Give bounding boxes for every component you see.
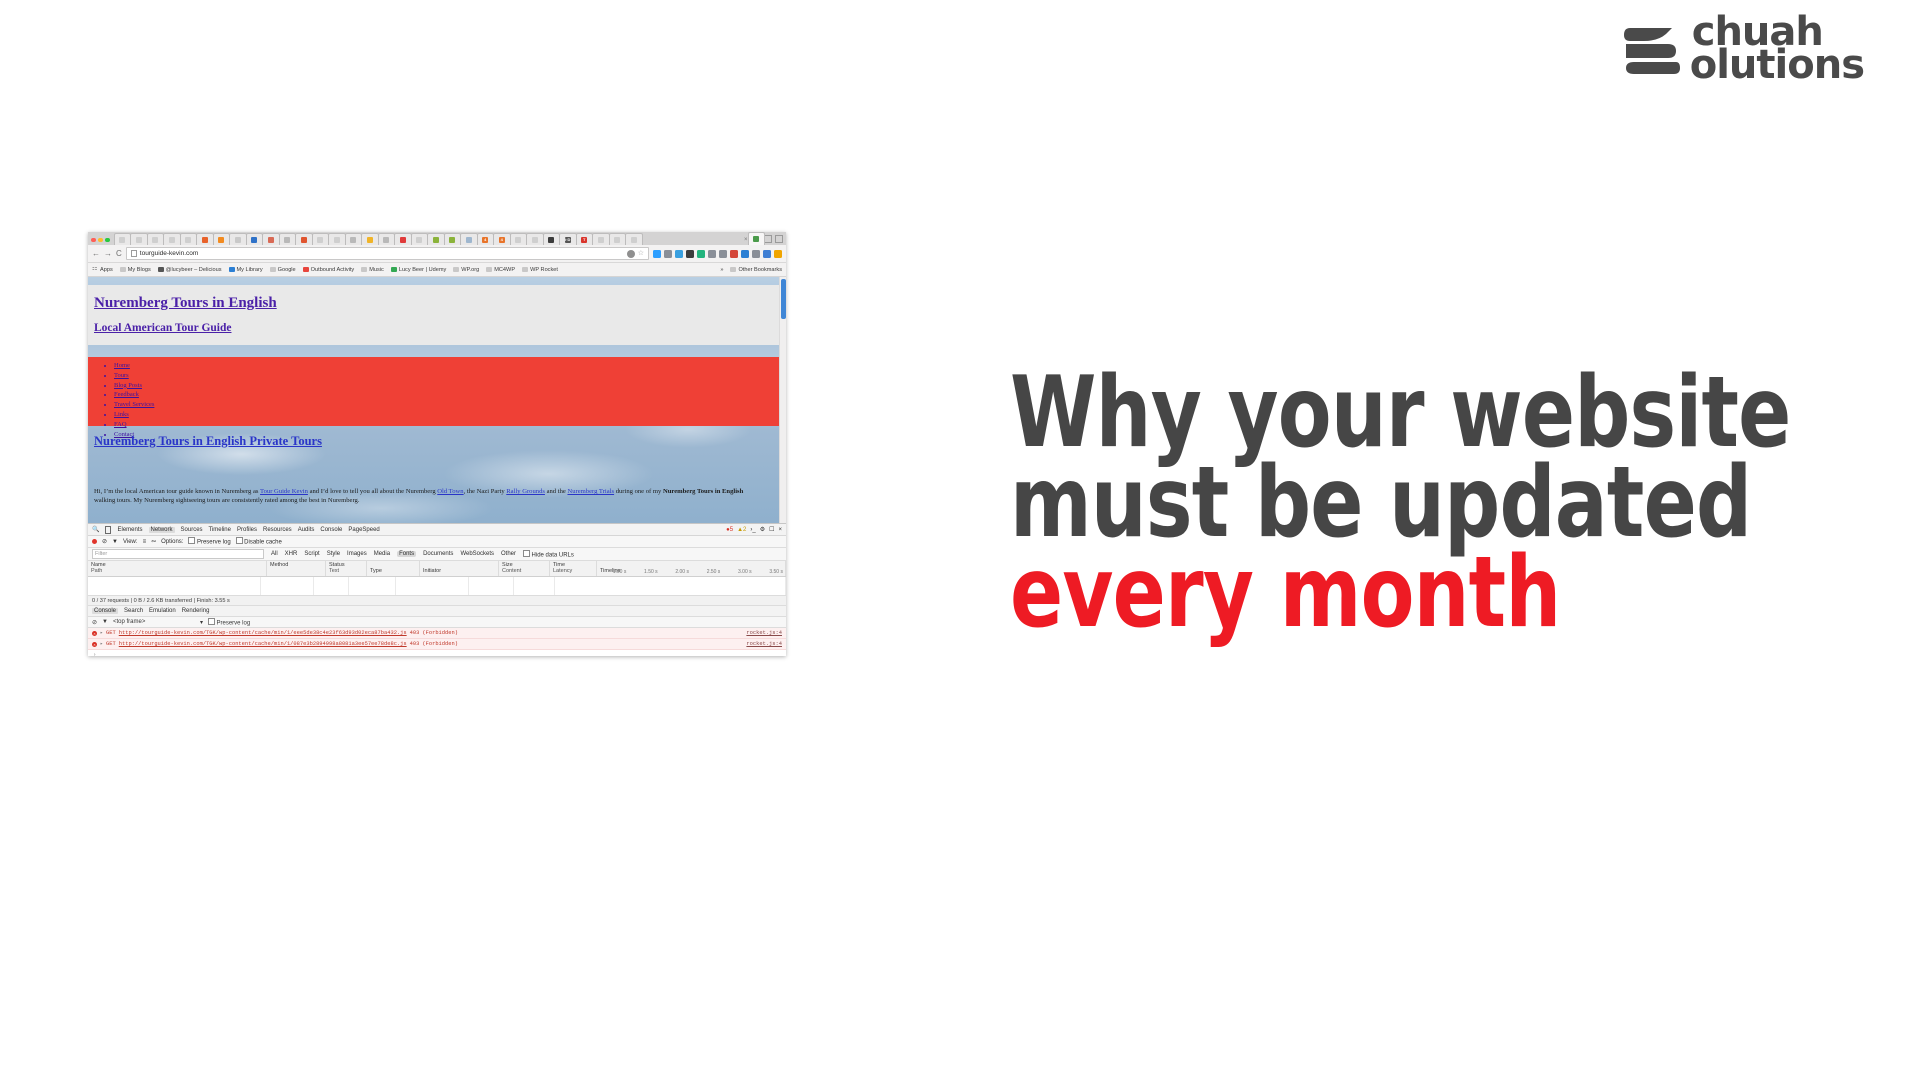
browser-tab-9[interactable] [262,233,280,245]
library-icon [229,267,235,272]
network-table-header[interactable]: NamePath Method StatusText Type Initiato… [88,560,786,577]
bookmark-my-blogs[interactable]: My Blogs [120,267,151,273]
window-controls[interactable] [91,238,110,246]
slide-headline: Why your website must be updated every m… [1010,368,1870,638]
status-text: (Forbidden) [422,641,458,647]
browser-tab-23[interactable]: 4 [493,233,511,245]
bookmark-lucy-beer-udemy[interactable]: Lucy Beer | Udemy [391,267,446,273]
blank-icon [532,237,538,243]
list-view-icon[interactable]: ≡ [143,539,147,545]
headline-line-2: must be updated [1010,458,1698,548]
column-method: Method [267,561,326,576]
bookmark-my-library[interactable]: My Library [229,267,263,273]
link-rally-grounds[interactable]: Rally Grounds [506,488,545,495]
filter-type-xhr[interactable]: XHR [285,551,298,557]
blank-icon [614,237,620,243]
drawer-tab-rendering[interactable]: Rendering [182,608,210,614]
logo-line-2: olutions [1690,49,1864,82]
bookmark-lucybeer-delicious[interactable]: @lucybeer – Delicious [158,267,222,273]
source-link[interactable]: rocket.js:4 [746,630,782,636]
clock-icon[interactable] [719,250,727,258]
devtools-panel: 🔍 ElementsNetworkSourcesTimelineProfiles… [88,523,786,656]
blank-icon [169,237,175,243]
browser-tab-26[interactable] [543,233,561,245]
browser-screenshot: 44i·DT × ← → C tourguide-kevin.com ☆ ☷Ap… [88,232,786,656]
devtools-tab-audits[interactable]: Audits [298,527,315,533]
browser-tab-4[interactable] [180,233,198,245]
browser-tab-3[interactable] [163,233,181,245]
site-nav-item-tours[interactable]: Tours [114,371,786,381]
column-timeline: Timeline 1.00 s1.50 s2.00 s2.50 s3.00 s3… [597,561,786,576]
console-toolbar[interactable]: ⊘ ▼ <top frame>▾ Preserve log [88,617,786,628]
address-bar[interactable]: tourguide-kevin.com ☆ [126,247,649,260]
browser-tab-17[interactable] [394,233,412,245]
browser-tab-14[interactable] [345,233,363,245]
browser-tab-1[interactable] [130,233,148,245]
filter-type-all[interactable]: All [271,551,278,557]
source-link[interactable]: rocket.js:4 [746,641,782,647]
orange-plus-icon [218,237,224,243]
network-filter-bar[interactable]: Filter AllXHRScriptStyleImagesMediaFonts… [88,548,786,560]
status-text: (Forbidden) [422,630,458,636]
page-body-paragraph: Hi, I’m the local American tour guide kn… [94,487,766,505]
cast-icon[interactable] [708,250,716,258]
error-count-badge[interactable]: ●5 [726,527,733,533]
browser-tab-27[interactable]: i·D [559,233,577,245]
zoom-window-icon[interactable] [105,238,110,243]
column-initiator: Initiator [420,561,499,576]
clear-icon[interactable]: ⊘ [102,538,107,545]
lock-icon[interactable] [730,250,738,258]
browser-tab-8[interactable] [246,233,264,245]
site-subtitle-link[interactable]: Local American Tour Guide [94,322,231,334]
window-buttons[interactable] [764,235,786,245]
site-nav-item-faq[interactable]: FAQ [114,420,786,430]
leaf-icon [433,237,439,243]
browser-tab-5[interactable] [196,233,214,245]
devtools-tab-profiles[interactable]: Profiles [237,527,257,533]
filter-type-other[interactable]: Other [501,551,516,557]
orange-doc-icon [202,237,208,243]
plus-icon[interactable] [741,250,749,258]
browser-tab-24[interactable] [510,233,528,245]
bookmark-outbound-activity[interactable]: Outbound Activity [303,267,355,273]
network-toolbar[interactable]: ⊘ ▼ View: ≡ ∾ Options: Preserve log Disa… [88,536,786,548]
extension-icons[interactable] [653,250,782,258]
devtools-tab-bar[interactable]: 🔍 ElementsNetworkSourcesTimelineProfiles… [88,524,786,536]
blank-icon [598,237,604,243]
browser-tab-21[interactable] [460,233,478,245]
io-icon: i·D [565,237,571,243]
browser-tab-2[interactable] [147,233,165,245]
warning-count-badge[interactable]: ▲2 [737,527,746,533]
heart-red-icon [400,237,406,243]
browser-tab-29[interactable] [592,233,610,245]
browser-tab-0[interactable] [114,233,132,245]
book-icon [251,237,257,243]
bookmark-wp-org[interactable]: WP.org [453,267,479,273]
console-error-row[interactable]: ×▸GEThttp://tourguide-kevin.com/TGK/wp-c… [88,628,786,639]
console-preserve-log-checkbox[interactable]: Preserve log [208,618,250,627]
blank-icon [119,237,125,243]
close-window-icon[interactable] [91,238,96,243]
devtools-tab-network[interactable]: Network [149,527,175,533]
drawer-tab-search[interactable]: Search [124,608,143,614]
console-frame-select[interactable]: <top frame>▾ [113,619,203,626]
devtools-tab-elements[interactable]: Elements [117,527,142,533]
browser-tab-15[interactable] [361,233,379,245]
site-nav-item-home[interactable]: Home [114,361,786,371]
timeline-tick: 2.50 s [691,569,722,575]
filter-input[interactable]: Filter [92,549,264,559]
badge4-icon: 4 [499,237,505,243]
back-button[interactable]: ← [92,250,100,258]
folder-icon [120,267,126,272]
view-label: View: [123,539,138,545]
timeline-tick: 1.50 s [628,569,659,575]
udemy-icon [391,267,397,272]
browser-tab-31[interactable] [625,233,643,245]
bookmark-google[interactable]: Google [270,267,296,273]
site-nav-item-links[interactable]: Links [114,410,786,420]
network-status-bar: 0 / 37 requests | 0 B / 2.6 KB transferr… [88,595,786,606]
brand-logo: chuah olutions [1622,16,1864,82]
address-bar-url: tourguide-kevin.com [140,250,199,257]
blank-icon [317,237,323,243]
console-clear-icon[interactable]: ⊘ [92,619,97,626]
devtools-tab-pagespeed[interactable]: PageSpeed [348,527,379,533]
request-method: GET [106,630,116,636]
bookmark-music[interactable]: Music [361,267,384,273]
blank-icon [631,237,637,243]
browser-tab-11[interactable] [295,233,313,245]
minimize-icon[interactable] [764,235,772,243]
site-nav-block: HomeToursBlog PostsFeedbackTravel Servic… [88,357,786,426]
filter-type-documents[interactable]: Documents [423,551,453,557]
letterT-icon: T [581,237,587,243]
error-icon: × [92,642,97,647]
image-icon[interactable] [675,250,683,258]
filter-type-images[interactable]: Images [347,551,367,557]
heart-icon [367,237,373,243]
page-viewport: Nuremberg Tours in English Local America… [88,277,786,523]
grid-icon [301,237,307,243]
devtools-tab-timeline[interactable]: Timeline [209,527,231,533]
filter-type-media[interactable]: Media [374,551,390,557]
folder-icon [730,267,736,272]
browser-tab-6[interactable] [213,233,231,245]
devtools-tab-console[interactable]: Console [320,527,342,533]
device-toggle-icon[interactable] [105,526,111,534]
browser-toolbar: ← → C tourguide-kevin.com ☆ [88,245,786,263]
site-title-link[interactable]: Nuremberg Tours in English [94,295,277,312]
blank-icon [515,237,521,243]
browser-tab-30[interactable] [609,233,627,245]
preserve-log-checkbox[interactable]: Preserve log [188,537,230,546]
browser-tab-28[interactable]: T [576,233,594,245]
drawer-tab-console[interactable]: Console [92,608,118,614]
error-icon: × [92,631,97,636]
blank-icon [416,237,422,243]
site-nav-item-feedback[interactable]: Feedback [114,390,786,400]
close-icon[interactable]: × [778,527,782,533]
column-size: SizeContent [499,561,550,576]
bookmark-wp-rocket[interactable]: WP Rocket [522,267,558,273]
drawer-tab-emulation[interactable]: Emulation [149,608,176,614]
hide-data-urls-checkbox[interactable]: Hide data URLs [523,550,574,559]
page-scrollbar[interactable] [779,277,786,523]
browser-tab-20[interactable] [444,233,462,245]
apps-grid-icon: ☷ [92,267,98,272]
console-filter-icon[interactable]: ▼ [102,619,108,625]
blank-icon [185,237,191,243]
wordpress-icon [350,237,356,243]
outbound-icon [303,267,309,272]
filter-type-fonts[interactable]: Fonts [397,551,416,557]
layers-icon[interactable] [686,250,694,258]
browser-tab-22[interactable]: 4 [477,233,495,245]
https-icon[interactable] [774,250,782,258]
scrollbar-thumb[interactable] [781,279,786,319]
wordpress-icon[interactable] [627,250,635,258]
console-message-list[interactable]: ×▸GEThttp://tourguide-kevin.com/TGK/wp-c… [88,628,786,650]
browser-tab-18[interactable] [411,233,429,245]
network-request-rows[interactable] [88,577,786,595]
devtools-status-group: ●5 ▲2 ›_ ⚙ ☐ × [726,526,782,533]
pin-icon[interactable] [697,250,705,258]
headline-line-3: every month [1010,548,1698,638]
active-tab[interactable] [748,232,766,245]
wordpress-icon [383,237,389,243]
filter-icon[interactable]: ▼ [112,539,118,545]
bookmark-mc4wp[interactable]: MC4WP [486,267,515,273]
filter-type-style[interactable]: Style [327,551,340,557]
timeline-tick: 2.00 s [660,569,691,575]
options-label: Options: [161,539,183,545]
console-error-row[interactable]: ×▸GEThttp://tourguide-kevin.com/TGK/wp-c… [88,639,786,650]
browser-tab-10[interactable] [279,233,297,245]
request-method: GET [106,641,116,647]
pen-icon [548,237,554,243]
folder-icon [270,267,276,272]
bookmark-star-icon[interactable]: ☆ [638,250,644,257]
delicious-icon [158,267,164,272]
disqus-icon[interactable] [653,250,661,258]
badge4-icon: 4 [482,237,488,243]
section-heading-link[interactable]: Nuremberg Tours in English Private Tours [94,434,322,449]
minimize-window-icon[interactable] [98,238,103,243]
bookmarks-bar[interactable]: ☷AppsMy Blogs@lucybeer – DeliciousMy Lib… [88,263,786,277]
bookmark-other-bookmarks[interactable]: Other Bookmarks [730,267,782,273]
disable-cache-checkbox[interactable]: Disable cache [236,537,282,546]
gear-icon[interactable]: ⚙ [760,526,765,533]
blank-icon [136,237,142,243]
dock-icon[interactable]: ☐ [769,526,774,533]
filter-type-websockets[interactable]: WebSockets [460,551,494,557]
folder-icon [486,267,492,272]
blank-icon [334,237,340,243]
page-info-icon[interactable] [131,250,137,257]
headline-line-1: Why your website [1010,368,1698,458]
request-url[interactable]: http://tourguide-kevin.com/TGK/wp-conten… [119,641,407,647]
timeline-tick: 1.00 s [597,569,628,575]
status-code: 403 [410,641,420,647]
tab-list[interactable]: 44i·DT [114,233,742,245]
shield-icon[interactable] [763,250,771,258]
drawer-tab-bar[interactable]: ConsoleSearchEmulationRendering [88,606,786,617]
site-nav-list[interactable]: HomeToursBlog PostsFeedbackTravel Servic… [88,357,786,439]
link-tour-guide-kevin[interactable]: Tour Guide Kevin [260,488,308,495]
browser-tab-strip: 44i·DT × [88,232,786,245]
site-nav-item-blog-posts[interactable]: Blog Posts [114,381,786,391]
mail-icon [235,237,241,243]
forward-button[interactable]: → [104,250,112,258]
browser-tab-13[interactable] [328,233,346,245]
blank-icon [152,237,158,243]
expand-icon[interactable]: ▸ [100,630,103,636]
folder-icon [361,267,367,272]
person-icon [268,237,274,243]
console-input-prompt[interactable]: › [88,650,786,656]
browser-tab-16[interactable] [378,233,396,245]
devtools-search-icon[interactable]: 🔍 [92,526,99,533]
dropper-icon[interactable] [664,250,672,258]
leaf-icon [449,237,455,243]
timeline-tick: 3.00 s [722,569,753,575]
wordpress-icon [284,237,290,243]
bookmarks-overflow-button[interactable]: » [720,267,723,273]
expand-icon[interactable]: ▸ [100,641,103,647]
browser-tab-12[interactable] [312,233,330,245]
browser-tab-19[interactable] [427,233,445,245]
status-code: 403 [410,630,420,636]
link-old-town[interactable]: Old Town [437,488,463,495]
filter-type-script[interactable]: Script [304,551,319,557]
console-drawer-toggle[interactable]: ›_ [750,527,755,533]
devtools-tab-sources[interactable]: Sources [181,527,203,533]
column-name: NamePath [88,561,267,576]
folder-icon [453,267,459,272]
folder-icon [522,267,528,272]
link-nuremberg-trials[interactable]: Nuremberg Trials [567,488,614,495]
share-icon[interactable] [752,250,760,258]
reload-button[interactable]: C [116,250,122,258]
devtools-tab-resources[interactable]: Resources [263,527,292,533]
news-icon [466,237,472,243]
request-url[interactable]: http://tourguide-kevin.com/TGK/wp-conten… [119,630,407,636]
browser-tab-25[interactable] [526,233,544,245]
column-type: Type [367,561,420,576]
page-header-band [88,285,786,345]
browser-tab-7[interactable] [229,233,247,245]
schuah-s-mark-icon [1622,18,1684,80]
column-time: TimeLatency [550,561,597,576]
site-nav-item-travel-services[interactable]: Travel Services [114,400,786,410]
timeline-tick: 3.50 s [754,569,785,575]
timeline-view-icon[interactable]: ∾ [151,538,156,545]
bookmark-apps[interactable]: ☷Apps [92,267,113,273]
column-status: StatusText [326,561,367,576]
record-icon[interactable] [92,539,97,544]
maximize-icon[interactable] [775,235,783,243]
